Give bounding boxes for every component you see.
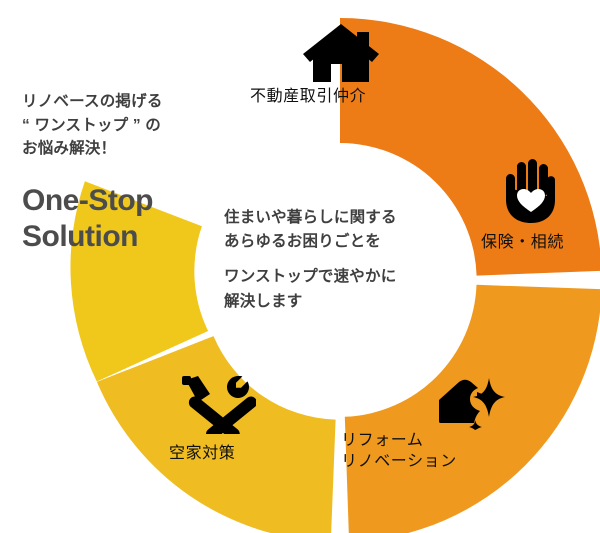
lead-line-3: お悩み解決！ <box>22 137 232 161</box>
house-sparkle-icon <box>437 378 505 430</box>
center-line-1: 住まいや暮らしに関する <box>224 206 454 230</box>
donut-segment-reform[interactable] <box>97 336 336 533</box>
center-line-3: ワンストップで速やかに <box>224 265 454 289</box>
segment-label-reform-line-2: リノベーション <box>341 451 457 472</box>
title-line-1: One-Stop <box>22 183 232 219</box>
hand-heart-icon <box>500 158 562 224</box>
segment-label-real-estate: 不動産取引仲介 <box>250 86 366 107</box>
segment-label-reform-line-1: リフォーム <box>341 430 457 451</box>
segment-label-vacant-house: 空家対策 <box>169 443 235 464</box>
hammer-wrench-icon <box>180 374 256 434</box>
title-line-2: Solution <box>22 219 232 255</box>
center-spacer <box>224 254 454 265</box>
lead-line-1: リノベースの掲げる <box>22 90 232 114</box>
lead-line-2: “ ワンストップ ” の <box>22 114 232 138</box>
segment-label-insurance: 保険・相続 <box>481 232 564 253</box>
center-line-4: 解決します <box>224 290 454 314</box>
house-icon <box>295 24 387 84</box>
center-line-2: あらゆるお困りごとを <box>224 230 454 254</box>
page-title: One-Stop Solution <box>22 183 232 255</box>
left-text-block: リノベースの掲げる “ ワンストップ ” の お悩み解決！ One-Stop S… <box>22 90 232 255</box>
center-text-block: 住まいや暮らしに関する あらゆるお困りごとを ワンストップで速やかに 解決します <box>224 206 454 314</box>
segment-label-reform: リフォーム リノベーション <box>341 430 457 473</box>
infographic-stage: リノベースの掲げる “ ワンストップ ” の お悩み解決！ One-Stop S… <box>0 0 600 533</box>
